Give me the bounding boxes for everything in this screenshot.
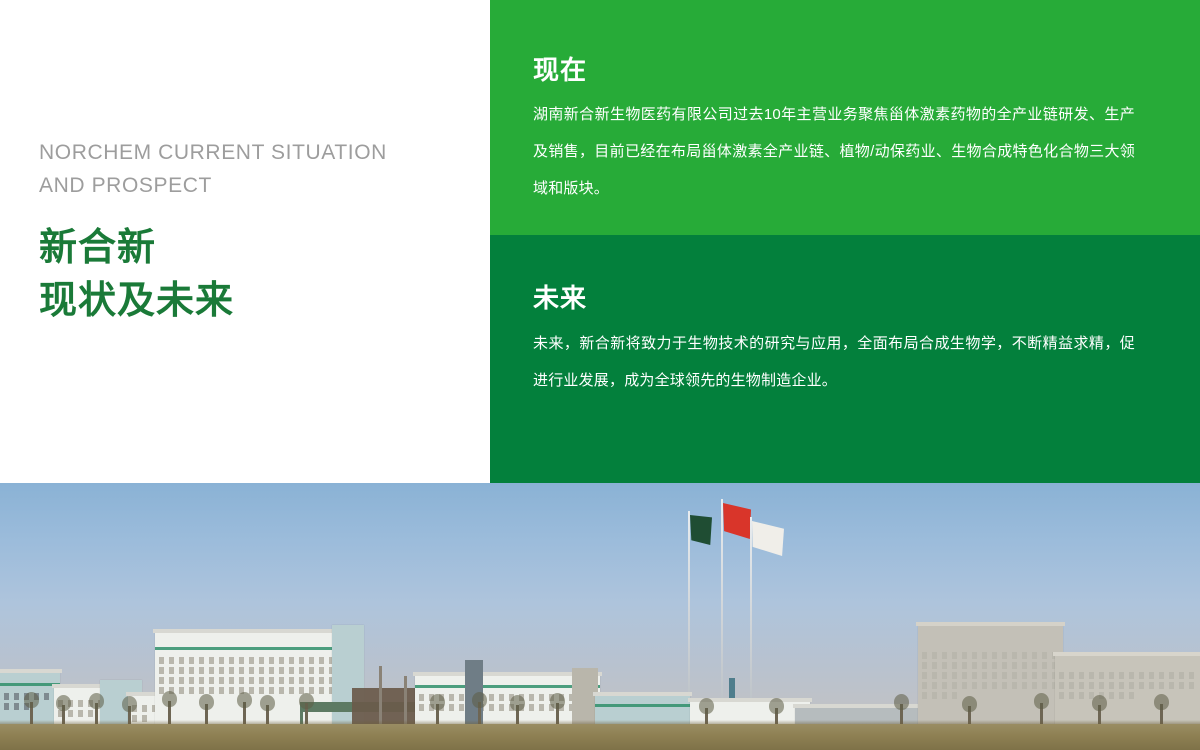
slide-canvas: NORCHEM CURRENT SITUATION AND PROSPECT 新… <box>0 0 1200 750</box>
green-flag <box>690 515 712 545</box>
section-future: 未来 未来，新合新将致力于生物技术的研究与应用，全面布局合成生物学，不断精益求精… <box>490 235 1200 483</box>
section-future-body: 未来，新合新将致力于生物技术的研究与应用，全面布局合成生物学，不断精益求精，促进… <box>533 325 1135 399</box>
roof <box>916 622 1065 626</box>
facade-band <box>595 704 690 707</box>
english-eyebrow-text: NORCHEM CURRENT SITUATION AND PROSPECT <box>39 136 439 202</box>
window-grid <box>922 652 1059 699</box>
left-title-panel: NORCHEM CURRENT SITUATION AND PROSPECT 新… <box>0 0 490 483</box>
section-future-heading: 未来 <box>533 278 587 315</box>
building-office-annex <box>1055 656 1200 728</box>
chimney-tall-left <box>379 666 382 728</box>
factory-campus-photo <box>0 483 1200 750</box>
roof <box>1053 652 1200 656</box>
window-grid <box>1059 672 1196 699</box>
window-grid <box>159 657 341 694</box>
facade-band <box>0 683 60 686</box>
flagpole-red <box>721 499 723 727</box>
page-title: 新合新 现状及未来 <box>39 222 234 328</box>
roof <box>793 704 937 708</box>
section-present-heading: 现在 <box>533 50 587 87</box>
ground-strip <box>0 724 1200 750</box>
roof <box>0 669 62 673</box>
roof <box>153 629 347 633</box>
section-present-body: 湖南新合新生物医药有限公司过去10年主营业务聚焦甾体激素药物的全产业链研发、生产… <box>533 96 1135 207</box>
section-present: 现在 湖南新合新生物医药有限公司过去10年主营业务聚焦甾体激素药物的全产业链研发… <box>490 0 1200 235</box>
red-flag <box>723 503 751 539</box>
roof <box>593 692 692 696</box>
white-flag <box>752 521 784 556</box>
facade-band <box>155 647 345 650</box>
window-grid <box>419 694 596 711</box>
